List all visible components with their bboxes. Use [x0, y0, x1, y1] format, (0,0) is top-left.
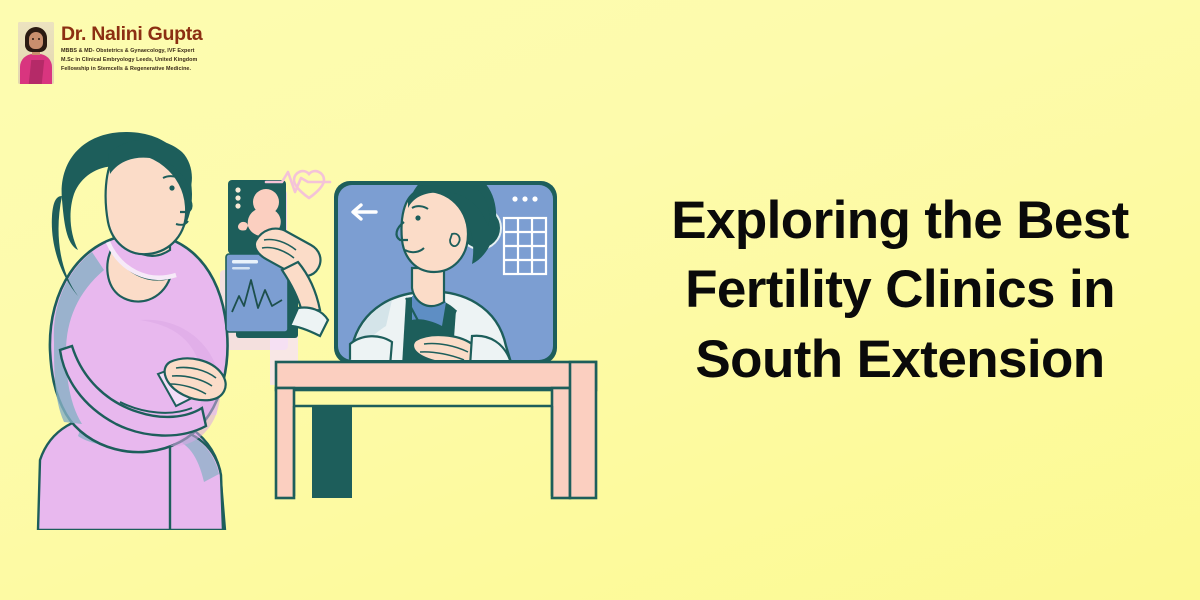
credentials-list: MBBS & MD- Obstetrics & Gynaecology, IVF… [61, 47, 202, 73]
brand-text: Dr. Nalini Gupta MBBS & MD- Obstetrics &… [61, 22, 202, 74]
credential-line-2: M.Sc in Clinical Embryology Leeds, Unite… [61, 56, 202, 65]
title-line-2: Fertility Clinics in [620, 255, 1180, 324]
pregnant-woman-patient [38, 132, 227, 530]
desk [276, 362, 596, 498]
portrait-sari [29, 60, 45, 84]
doctor-name: Dr. Nalini Gupta [61, 24, 202, 44]
screen-menu-dots-icon[interactable] [512, 196, 537, 201]
portrait-eye-left [32, 38, 34, 40]
credential-line-1: MBBS & MD- Obstetrics & Gynaecology, IVF… [61, 47, 202, 56]
title-line-3: South Extension [620, 325, 1180, 394]
title-line-1: Exploring the Best [620, 186, 1180, 255]
credential-line-3: Fellowship in Stemcells & Regenerative M… [61, 65, 202, 74]
page-title: Exploring the Best Fertility Clinics in … [620, 186, 1180, 394]
hero-illustration [20, 130, 620, 530]
brand-logo[interactable]: Dr. Nalini Gupta MBBS & MD- Obstetrics &… [18, 22, 202, 84]
portrait-eye-right [38, 38, 40, 40]
doctor-on-video-screen [334, 169, 557, 366]
portrait-face [29, 32, 43, 49]
doctor-portrait-photo [18, 22, 54, 84]
